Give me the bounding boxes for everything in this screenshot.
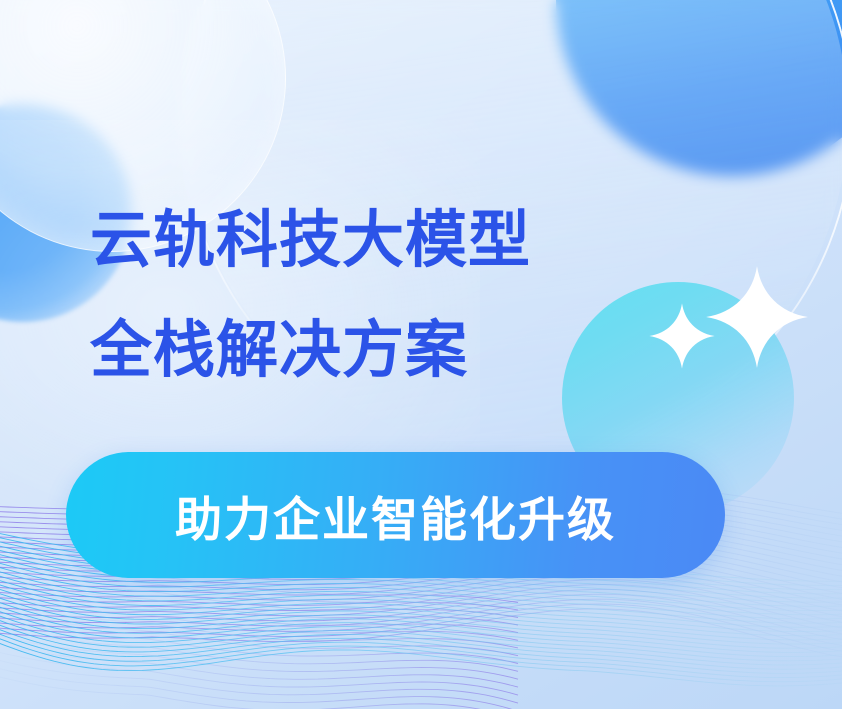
- headline-line-2: 全栈解决方案: [90, 296, 531, 406]
- cta-button-label: 助力企业智能化升级: [175, 481, 616, 550]
- headline-line-1: 云轨科技大模型: [90, 186, 531, 296]
- promo-banner: 云轨科技大模型 全栈解决方案 助力企业智能化升级: [0, 0, 842, 709]
- cta-button[interactable]: 助力企业智能化升级: [66, 452, 725, 578]
- page-title: 云轨科技大模型 全栈解决方案: [90, 186, 531, 406]
- banner-content: 云轨科技大模型 全栈解决方案 助力企业智能化升级: [0, 0, 842, 709]
